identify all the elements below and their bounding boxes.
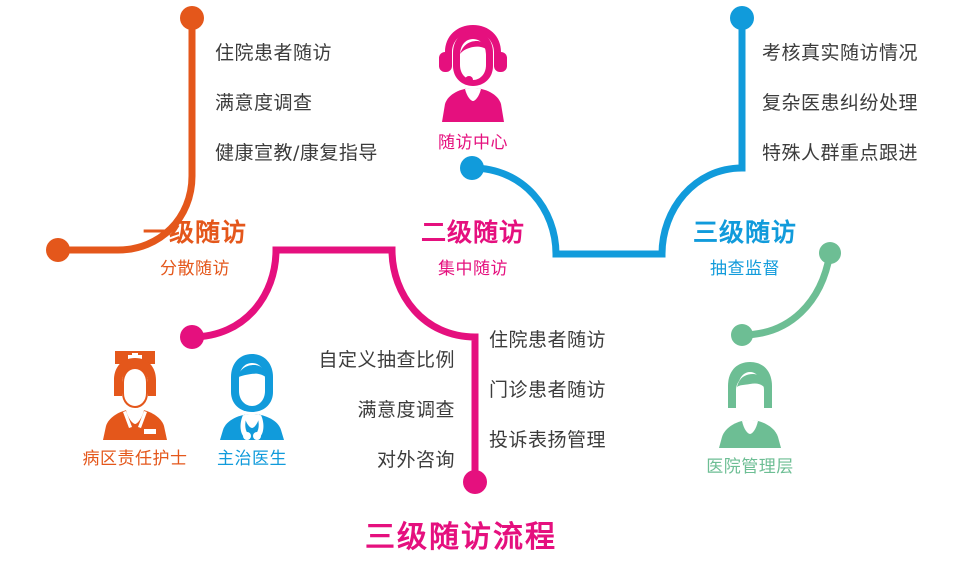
- task-item: 住院患者随访: [489, 325, 606, 352]
- level-subtitle: 分散随访: [135, 254, 255, 279]
- persona-caption: 主治医生: [192, 444, 312, 469]
- level-label-2: 二级随访 集中随访: [413, 219, 533, 279]
- persona-call-center: 随访中心: [413, 22, 533, 153]
- manager-icon: [713, 358, 787, 450]
- level-title: 一级随访: [135, 219, 255, 247]
- persona-caption: 随访中心: [413, 128, 533, 153]
- task-item: 投诉表扬管理: [489, 425, 606, 452]
- blue-dot-top: [730, 6, 754, 30]
- persona-caption: 医院管理层: [690, 452, 810, 477]
- level-subtitle: 集中随访: [413, 254, 533, 279]
- orange-connector-path: [58, 18, 192, 250]
- headset-operator-icon: [436, 22, 510, 126]
- task-list-level-1: 住院患者随访 满意度调查 健康宣教/康复指导: [215, 38, 378, 188]
- green-dot-bottom: [731, 324, 753, 346]
- task-item: 考核真实随访情况: [762, 38, 918, 65]
- task-item: 自定义抽查比例: [313, 345, 455, 372]
- magenta-dot-left: [180, 325, 204, 349]
- task-item: 满意度调查: [313, 395, 455, 422]
- magenta-dot-bottom: [463, 470, 487, 494]
- doctor-icon: [215, 348, 289, 442]
- page-title: 三级随访流程: [365, 512, 557, 556]
- persona-caption: 病区责任护士: [75, 444, 195, 469]
- task-list-level-3: 考核真实随访情况 复杂医患纠纷处理 特殊人群重点跟进: [762, 38, 918, 188]
- orange-dot-left: [46, 238, 70, 262]
- level-label-1: 一级随访 分散随访: [135, 219, 255, 279]
- task-item: 满意度调查: [215, 88, 378, 115]
- level-subtitle: 抽查监督: [685, 254, 805, 279]
- task-item: 门诊患者随访: [489, 375, 606, 402]
- task-list-level-2-left: 自定义抽查比例 满意度调查 对外咨询: [313, 345, 455, 495]
- orange-dot-top: [180, 6, 204, 30]
- task-list-level-2-right: 住院患者随访 门诊患者随访 投诉表扬管理: [489, 325, 606, 475]
- persona-doctor: 主治医生: [192, 348, 312, 469]
- task-item: 对外咨询: [313, 445, 455, 472]
- nurse-icon: [98, 348, 172, 442]
- green-dot-top: [819, 242, 841, 264]
- level-title: 二级随访: [413, 219, 533, 247]
- followup-process-diagram: 住院患者随访 满意度调查 健康宣教/康复指导 考核真实随访情况 复杂医患纠纷处理…: [0, 0, 965, 564]
- level-label-3: 三级随访 抽查监督: [685, 219, 805, 279]
- persona-nurse: 病区责任护士: [75, 348, 195, 469]
- persona-management: 医院管理层: [690, 358, 810, 477]
- task-item: 特殊人群重点跟进: [762, 138, 918, 165]
- task-item: 复杂医患纠纷处理: [762, 88, 918, 115]
- blue-dot-left: [460, 156, 484, 180]
- level-title: 三级随访: [685, 219, 805, 247]
- task-item: 住院患者随访: [215, 38, 378, 65]
- task-item: 健康宣教/康复指导: [215, 138, 378, 165]
